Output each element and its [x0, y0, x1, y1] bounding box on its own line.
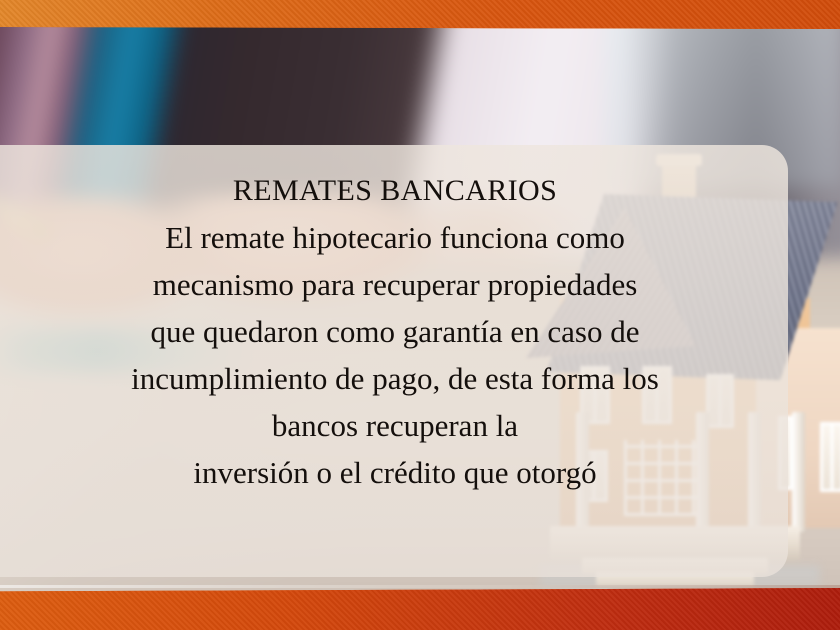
page-title: REMATES BANCARIOS [0, 176, 790, 206]
house-window [820, 422, 840, 492]
body-line-4: incumplimiento de pago, de esta forma lo… [0, 355, 790, 402]
message-text-block: REMATES BANCARIOS El remate hipotecario … [0, 176, 790, 496]
bottom-band-edge [0, 585, 840, 588]
house-porch-post [792, 412, 805, 532]
body-line-3: que quedaron como garantía en caso de [0, 308, 790, 355]
body-line-5: bancos recuperan la [0, 402, 790, 449]
body-line-2: mecanismo para recuperar propiedades [0, 261, 790, 308]
body-line-6: inversión o el crédito que otorgó [0, 449, 790, 496]
bottom-orange-band [0, 588, 840, 630]
slide-canvas: REMATES BANCARIOS El remate hipotecario … [0, 0, 840, 630]
body-line-1: El remate hipotecario funciona como [0, 214, 790, 261]
top-orange-band [0, 0, 840, 29]
